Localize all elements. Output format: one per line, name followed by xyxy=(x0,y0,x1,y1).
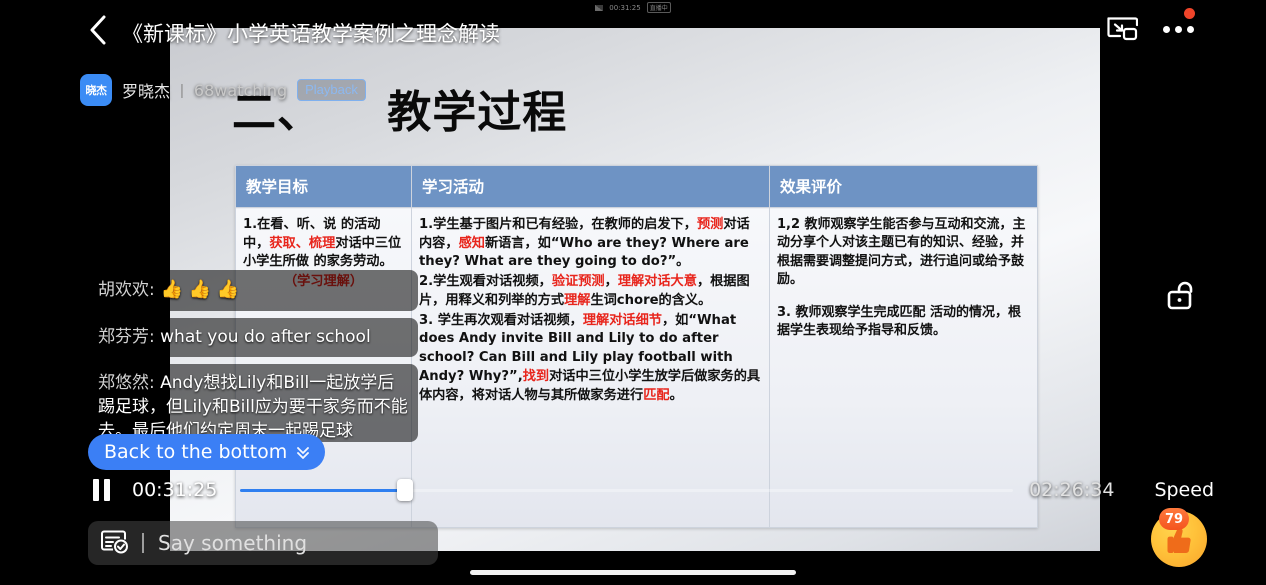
chat-message-user: 郑悠然: xyxy=(98,373,155,393)
seek-progress-fill xyxy=(240,489,405,492)
player-controls: 00:31:25 02:26:34 Speed xyxy=(0,473,1266,507)
card-check-button[interactable] xyxy=(88,530,142,556)
avatar[interactable]: 晓杰 xyxy=(80,74,112,106)
col2-p1-h2: 感知 xyxy=(459,236,485,251)
col2-p3-h1: 理解对话细节 xyxy=(583,313,662,328)
chat-message[interactable]: 郑悠然: Andy想找Lily和Bill一起放学后踢足球，但Lily和Bill应… xyxy=(88,364,418,442)
pause-icon-bar-2 xyxy=(104,479,110,501)
table-header-cell-1: 教学目标 xyxy=(236,166,412,208)
back-button[interactable] xyxy=(80,12,116,48)
status-time: 00:31:25 xyxy=(609,4,640,12)
input-divider xyxy=(142,533,144,553)
room-title[interactable]: 《新课标》小学英语教学案例之理念解读 xyxy=(122,18,500,48)
more-dot-3 xyxy=(1187,26,1194,33)
col2-p2-h3: 理解 xyxy=(564,293,590,308)
pause-icon-bar-1 xyxy=(93,479,99,501)
seek-bar[interactable] xyxy=(240,481,1013,499)
live-player-screen: 二、 教学过程 教学目标 学习活动 效果评价 1.在看、听、说 的活动中，获取、… xyxy=(0,0,1266,585)
card-check-icon xyxy=(100,530,130,556)
more-dot-2 xyxy=(1175,26,1182,33)
signal-icon xyxy=(595,5,603,11)
chat-message-text: 👍 👍 👍 xyxy=(155,279,239,300)
chat-message-list[interactable]: 胡欢欢: 👍 👍 👍 郑芬芳: what you do after school… xyxy=(88,270,418,442)
col2-p3-a: 3. 学生再次观看对话视频， xyxy=(419,313,583,328)
col2-p3-d: 。 xyxy=(670,388,683,403)
back-to-bottom-button[interactable]: Back to the bottom xyxy=(88,434,325,470)
col2-p1-a: 1.学生基于图片和已有经验，在教师的启发下， xyxy=(419,217,697,232)
col2-p2-h1: 验证预测 xyxy=(552,274,605,289)
table-header-cell-2: 学习活动 xyxy=(412,166,770,208)
back-to-bottom-label: Back to the bottom xyxy=(104,441,287,463)
col2-p2-a: 2.学生观看对话视频， xyxy=(419,274,552,289)
picture-in-picture-button[interactable] xyxy=(1104,12,1140,46)
seek-thumb[interactable] xyxy=(397,479,413,501)
unlock-icon xyxy=(1162,275,1202,315)
chat-message-user: 胡欢欢: xyxy=(98,280,155,300)
chat-input-placeholder[interactable]: Say something xyxy=(158,531,307,555)
pause-button[interactable] xyxy=(86,477,116,503)
chat-message-user: 郑芬芳: xyxy=(98,327,155,347)
chat-message-text: what you do after school xyxy=(155,327,371,347)
col1-highlight-a: 获取、梳理 xyxy=(269,236,335,251)
more-options-button[interactable] xyxy=(1158,14,1198,44)
col3-p2: 3. 教师观察学生完成匹配 活动的情况，根据学生表现给予指导和反馈。 xyxy=(777,304,1030,341)
col2-p2-h2: 理解对话大意 xyxy=(618,274,697,289)
col2-p3-h2: 找到 xyxy=(523,369,549,384)
more-dot-1 xyxy=(1163,26,1170,33)
watching-count: 68watching xyxy=(194,81,287,100)
presenter-name: 罗晓杰 xyxy=(122,78,170,102)
home-indicator xyxy=(470,570,796,575)
speed-button[interactable]: Speed xyxy=(1154,479,1214,501)
live-badge: 直播中 xyxy=(647,2,671,13)
chevron-left-icon xyxy=(88,14,108,46)
col2-p2-d: 生词chore的含义。 xyxy=(590,293,711,308)
like-count-badge: 79 xyxy=(1159,508,1189,530)
total-time: 02:26:34 xyxy=(1029,479,1114,501)
col2-p3-h3: 匹配 xyxy=(643,388,669,403)
status-bar: 00:31:25 直播中 xyxy=(0,1,1266,14)
chevron-double-down-icon xyxy=(295,444,311,460)
screen-lock-button[interactable] xyxy=(1157,270,1207,320)
current-time: 00:31:25 xyxy=(132,479,224,501)
table-header-row: 教学目标 学习活动 效果评价 xyxy=(236,166,1038,208)
picture-in-picture-icon xyxy=(1106,15,1138,43)
col2-p1-h1: 预测 xyxy=(697,217,723,232)
table-header-cell-3: 效果评价 xyxy=(770,166,1038,208)
playback-badge: Playback xyxy=(297,79,366,101)
chat-message[interactable]: 郑芬芳: what you do after school xyxy=(88,318,418,357)
chat-input-bar[interactable]: Say something xyxy=(88,521,438,565)
presenter-info: 晓杰 罗晓杰 | 68watching Playback xyxy=(80,74,366,106)
chat-message[interactable]: 胡欢欢: 👍 👍 👍 xyxy=(88,270,418,311)
col2-p2-b: ， xyxy=(605,274,618,289)
col3-p1: 1,2 教师观察学生能否参与互动和交流，主动分享个人对该主题已有的知识、经验，并… xyxy=(777,216,1030,290)
presenter-divider: | xyxy=(180,82,184,99)
